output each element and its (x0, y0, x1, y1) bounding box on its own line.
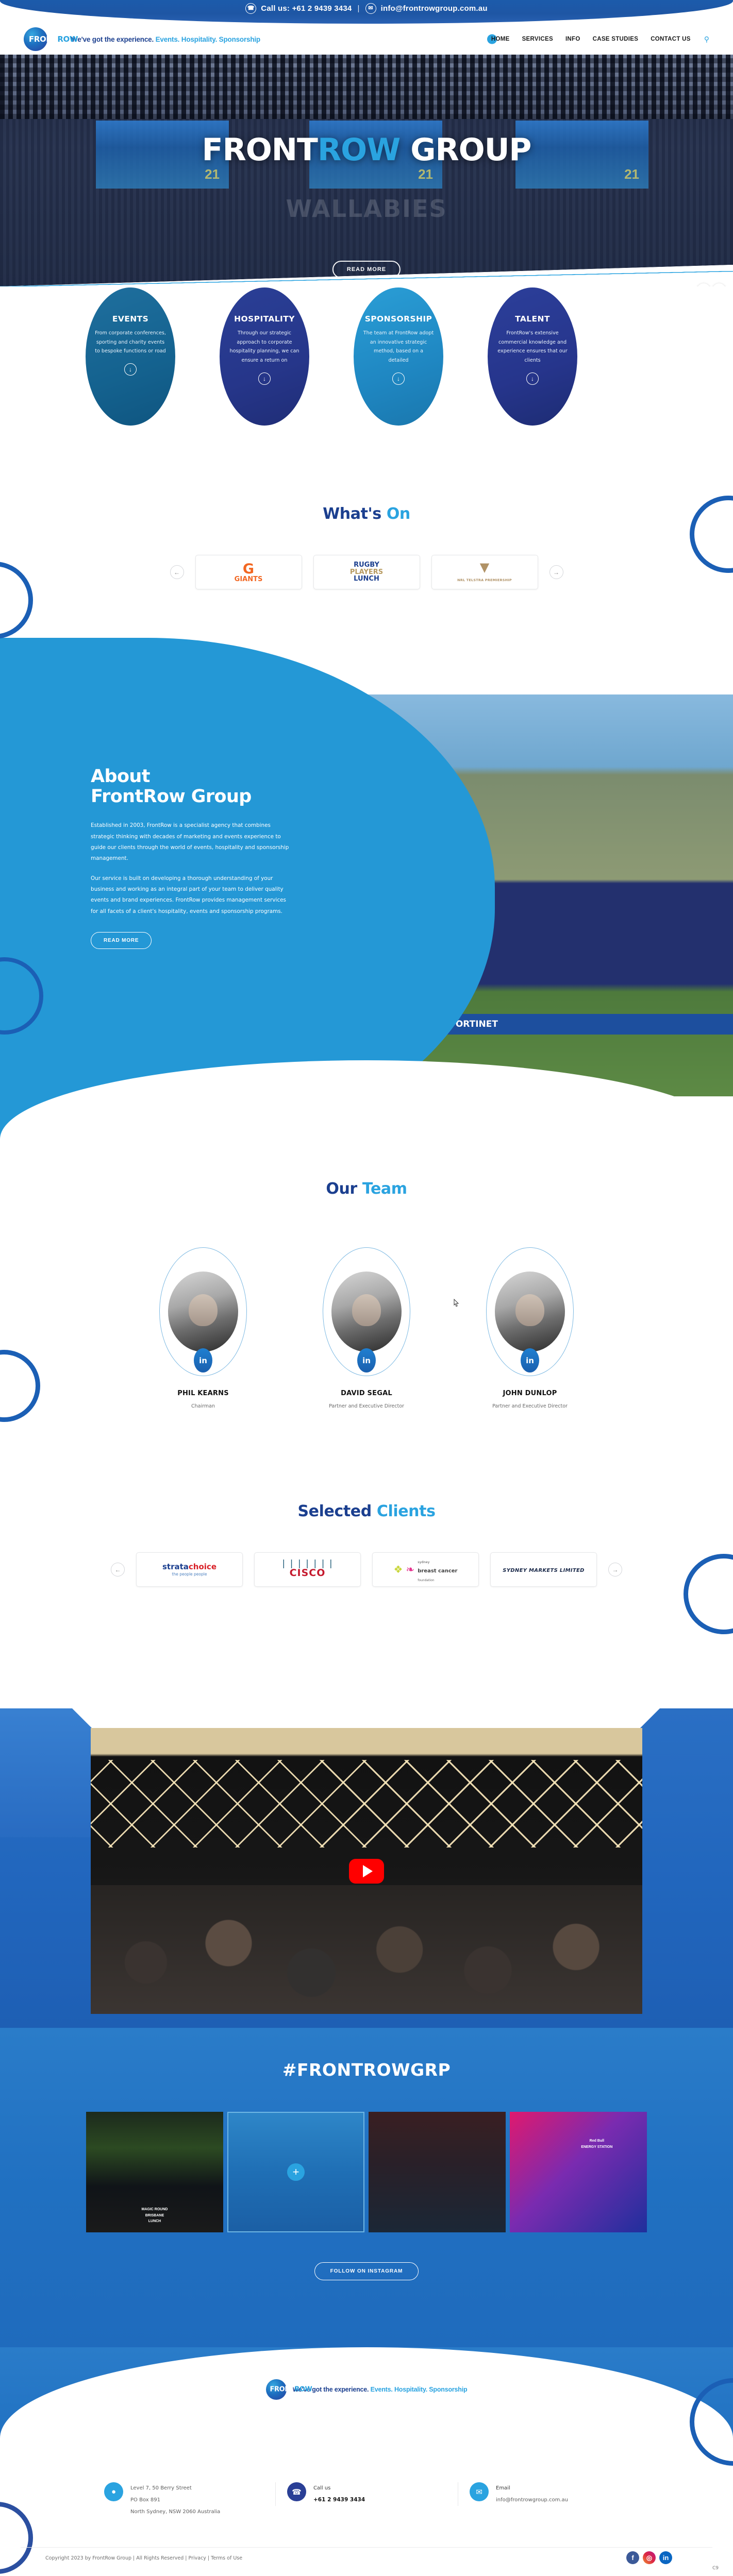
feature-oval-row: EVENTS From corporate conferences, sport… (0, 286, 733, 432)
client-card-stratachoice[interactable]: stratachoice the people people (136, 1552, 243, 1587)
hero-title-row: ROW (318, 132, 400, 168)
clients-carousel: ← stratachoice the people people ❘❘❘❘❘❘❘… (0, 1552, 733, 1587)
giants-label: GIANTS (235, 575, 263, 583)
rpl-line3: LUNCH (350, 575, 383, 583)
hero-title-front: FRONT (202, 132, 318, 168)
sbc-line1: sydney (418, 1560, 429, 1564)
sc-part-b: choice (189, 1562, 216, 1571)
hero-lighting-rig (0, 55, 733, 119)
mail-icon: ✉ (470, 2482, 489, 2501)
footer-phone-block: ☎ Call us +61 2 9439 3434 (275, 2482, 458, 2506)
team-title-a: Our (326, 1180, 362, 1198)
site-logo[interactable]: FRONTROW (24, 27, 47, 51)
video-player[interactable] (91, 1728, 642, 2014)
cisco-bars-icon: ❘❘❘❘❘❘❘ (280, 1560, 335, 1568)
hero-banner: WALLABIES FRONTROW GROUP READ MORE ‹ › (0, 55, 733, 286)
nav-item-case-studies[interactable]: CASE STUDIES (592, 34, 640, 44)
linkedin-icon[interactable]: in (659, 2551, 672, 2564)
flower-icon: ❖ (394, 1564, 403, 1575)
search-icon[interactable]: ⚲ (704, 35, 709, 44)
arrow-down-icon[interactable]: ↓ (392, 372, 405, 385)
arrow-down-icon[interactable]: ↓ (526, 372, 539, 385)
nav-item-home[interactable]: HOME (490, 34, 511, 44)
email-heading: Email (496, 2482, 568, 2494)
hero-backdrop-text: WALLABIES (0, 195, 733, 223)
feature-card-sponsorship[interactable]: SPONSORSHIP The team at FrontRow adopt a… (353, 286, 444, 427)
footer-logo-row: ROW (294, 2386, 312, 2394)
team-title: Our Team (0, 1180, 733, 1198)
sc-subtitle: the people people (162, 1572, 216, 1577)
selected-clients-section: Selected Clients ← stratachoice the peop… (0, 1502, 733, 1719)
site-footer: FRONTROW We've got the experience. Event… (0, 2347, 733, 2576)
site-header: FRONTROW We've got the experience. Event… (0, 24, 733, 55)
client-card-cisco[interactable]: ❘❘❘❘❘❘❘ CISCO (254, 1552, 361, 1587)
team-section: Our Team in PHIL KEARNS Chairman in (0, 1180, 733, 1499)
call-us-number[interactable]: +61 2 9439 3434 (313, 2494, 365, 2506)
footer-tagline: We've got the experience. Events. Hospit… (293, 2386, 468, 2393)
play-button-icon[interactable] (349, 1859, 384, 1884)
about-paragraph-2: Our service is built on developing a tho… (91, 873, 294, 917)
cisco-wordmark: CISCO (290, 1567, 326, 1579)
whats-on-section: What's On ← G GIANTS RUGBY PLAYERS LUNCH (0, 505, 733, 589)
about-content: About FrontRow Group Established in 2003… (91, 767, 294, 949)
footer-contact-row: ● Level 7, 50 Berry Street PO Box 891 No… (0, 2482, 733, 2518)
plus-icon[interactable]: + (287, 2163, 305, 2181)
nrl-telstra-premiership-logo: ▼ NRL TELSTRA PREMIERSHIP (457, 561, 512, 583)
top-contact-bar: ☎ Call us: +61 2 9439 3434 | ✉ info@fron… (0, 0, 733, 24)
arrow-down-icon[interactable]: ↓ (258, 372, 271, 385)
about-heading: About FrontRow Group (91, 767, 294, 807)
feature-card-talent[interactable]: TALENT FrontRow's extensive commercial k… (487, 286, 578, 427)
footer-address-block: ● Level 7, 50 Berry Street PO Box 891 No… (93, 2482, 275, 2518)
whats-on-card-giants[interactable]: G GIANTS (195, 555, 302, 589)
address-line-2: PO Box 891 (130, 2494, 220, 2506)
tagline-plain: We've got the experience. (71, 36, 154, 43)
logo-text-front: FRONT (29, 35, 57, 44)
sydney-breast-cancer-foundation-logo: ❖ ❧ sydney breast cancer foundation (394, 1556, 458, 1583)
feature-title-hospitality: HOSPITALITY (234, 314, 295, 324)
facebook-icon[interactable]: f (626, 2551, 639, 2564)
logo-ball-icon: FRONTROW (266, 2379, 287, 2400)
feature-card-hospitality[interactable]: HOSPITALITY Through our strategic approa… (219, 286, 310, 427)
giants-mark: G (235, 562, 263, 576)
avatar (495, 1272, 565, 1352)
clients-title-a: Selected (297, 1502, 376, 1520)
rugby-players-lunch-logo: RUGBY PLAYERS LUNCH (350, 562, 383, 583)
team-grid: in PHIL KEARNS Chairman in DAVID SEGAL P… (0, 1247, 733, 1409)
footer-email-block: ✉ Email info@frontrowgroup.com.au (458, 2482, 640, 2506)
linkedin-icon[interactable]: in (194, 1348, 212, 1372)
instagram-tile-portrait[interactable]: + (227, 2112, 364, 2232)
clients-title-b: Clients (377, 1502, 436, 1520)
instagram-section: #FRONTROWGRP + FOLLOW ON INSTAGRAM (0, 2028, 733, 2347)
cisco-logo: ❘❘❘❘❘❘❘ CISCO (280, 1560, 335, 1579)
feature-body-hospitality: Through our strategic approach to corpor… (229, 329, 300, 365)
avatar (168, 1272, 238, 1352)
logo-ball-icon: FRONTROW (24, 27, 47, 51)
sc-part-a: strata (162, 1562, 189, 1571)
about-section: betr CHAMPIONS LOUNGE betr FORTINET Abou… (0, 638, 733, 1158)
nav-item-contact-us[interactable]: CONTACT US (649, 34, 692, 44)
footer-divider (21, 2547, 712, 2548)
whats-on-carousel: ← G GIANTS RUGBY PLAYERS LUNCH ▼ NRL TEL… (0, 555, 733, 589)
clients-title: Selected Clients (0, 1502, 733, 1520)
corner-mark: C9 (712, 2566, 719, 2571)
hero-bottom-accent-line (0, 271, 733, 286)
rpl-line2: PLAYERS (350, 569, 383, 576)
logo-text-row: ROW (57, 35, 78, 44)
feature-body-sponsorship: The team at FrontRow adopt an innovative… (363, 329, 434, 365)
linkedin-icon[interactable]: in (357, 1348, 376, 1372)
hero-title: FRONTROW GROUP (0, 132, 733, 168)
whats-on-next-button[interactable]: → (549, 565, 563, 579)
team-member-name: JOHN DUNLOP (476, 1389, 584, 1397)
nrl-caption: NRL TELSTRA PREMIERSHIP (457, 578, 512, 582)
footer-social-links: f ◎ in (626, 2551, 672, 2564)
location-pin-icon: ● (104, 2482, 123, 2501)
footer-logo[interactable]: FRONTROW We've got the experience. Event… (0, 2379, 733, 2400)
team-member-john-dunlop[interactable]: in JOHN DUNLOP Partner and Executive Dir… (476, 1247, 584, 1409)
clients-next-button[interactable]: → (608, 1563, 622, 1577)
audience-crowd (91, 1885, 642, 2014)
instagram-icon[interactable]: ◎ (643, 2551, 656, 2564)
sydney-markets-limited-logo: SYDNEY MARKETS LIMITED (503, 1565, 584, 1574)
call-us-heading: Call us (313, 2482, 365, 2494)
whats-on-prev-button[interactable]: ← (170, 565, 184, 579)
main-navigation: HOME SERVICES INFO CASE STUDIES CONTACT … (490, 34, 709, 44)
address-line-3: North Sydney, NSW 2060 Australia (130, 2506, 220, 2518)
stage-zigzag-lights (91, 1760, 642, 1848)
team-title-b: Team (362, 1180, 407, 1198)
phone-icon: ☎ (245, 3, 256, 14)
about-heading-line2: FrontRow Group (91, 786, 252, 807)
client-card-sydney-breast-cancer[interactable]: ❖ ❧ sydney breast cancer foundation (372, 1552, 479, 1587)
page-root: ☎ Call us: +61 2 9439 3434 | ✉ info@fron… (0, 0, 733, 2576)
feature-title-events: EVENTS (112, 314, 148, 324)
nrl-shield-icon: ▼ (457, 561, 512, 573)
phone-icon: ☎ (287, 2482, 306, 2501)
stratachoice-logo: stratachoice the people people (162, 1562, 216, 1577)
team-member-role: Partner and Executive Director (476, 1403, 584, 1409)
about-heading-line1: About (91, 766, 150, 787)
avatar-ring: in (486, 1247, 574, 1376)
feature-title-talent: TALENT (515, 314, 550, 324)
header-tagline: We've got the experience. Events. Hospit… (71, 36, 260, 43)
email-address[interactable]: info@frontrowgroup.com.au (496, 2494, 568, 2506)
mail-icon: ✉ (365, 3, 376, 14)
team-member-role: Chairman (149, 1403, 257, 1409)
sml-wordmark: SYDNEY MARKETS LIMITED (503, 1568, 584, 1573)
team-member-david-segal[interactable]: in DAVID SEGAL Partner and Executive Dir… (312, 1247, 421, 1409)
sbc-line3: foundation (418, 1579, 434, 1582)
avatar-ring: in (323, 1247, 410, 1376)
avatar-ring: in (159, 1247, 247, 1376)
team-member-role: Partner and Executive Director (312, 1403, 421, 1409)
ribbon-icon: ❧ (406, 1564, 414, 1575)
clients-prev-button[interactable]: ← (111, 1563, 125, 1577)
whats-on-card-nrl[interactable]: ▼ NRL TELSTRA PREMIERSHIP (431, 555, 538, 589)
rpl-line1: RUGBY (350, 562, 383, 569)
copyright-text: Copyright 2023 by FrontRow Group | All R… (45, 2555, 242, 2561)
sbc-line2: breast cancer (418, 1568, 457, 1574)
tagline-accent: Events. Hospitality. Sponsorship (156, 36, 260, 43)
nav-item-info[interactable]: INFO (564, 34, 581, 44)
client-card-sydney-markets[interactable]: SYDNEY MARKETS LIMITED (490, 1552, 597, 1587)
linkedin-icon[interactable]: in (521, 1348, 539, 1372)
team-member-phil-kearns[interactable]: in PHIL KEARNS Chairman (149, 1247, 257, 1409)
instagram-tile-redbull[interactable] (510, 2112, 647, 2232)
instagram-tile-magic-round[interactable] (86, 2112, 223, 2232)
about-paragraph-1: Established in 2003, FrontRow is a speci… (91, 820, 294, 864)
whats-on-title-a: What's (323, 505, 387, 523)
about-read-more-button[interactable]: READ MORE (91, 932, 152, 949)
whats-on-title-b: On (387, 505, 410, 523)
top-call-text[interactable]: Call us: +61 2 9439 3434 (261, 4, 352, 13)
whats-on-card-rugby-players-lunch[interactable]: RUGBY PLAYERS LUNCH (313, 555, 420, 589)
feature-body-talent: FrontRow's extensive commercial knowledg… (497, 329, 568, 365)
arrow-down-icon[interactable]: ↓ (124, 363, 137, 376)
feature-card-events[interactable]: EVENTS From corporate conferences, sport… (85, 286, 176, 427)
team-member-name: PHIL KEARNS (149, 1389, 257, 1397)
top-email-link[interactable]: info@frontrowgroup.com.au (381, 4, 488, 13)
footer-tagline-accent: Events. Hospitality. Sponsorship (371, 2386, 468, 2393)
feature-body-events: From corporate conferences, sporting and… (95, 329, 166, 356)
avatar (331, 1272, 402, 1352)
footer-logo-front: FRONT (270, 2386, 295, 2394)
address-line-1: Level 7, 50 Berry Street (130, 2482, 220, 2494)
nav-item-services[interactable]: SERVICES (521, 34, 554, 44)
top-separator: | (356, 4, 360, 13)
feature-title-sponsorship: SPONSORSHIP (365, 314, 432, 324)
mouse-cursor-icon (453, 1299, 460, 1308)
instagram-tile-panel[interactable] (369, 2112, 506, 2232)
hero-title-group: GROUP (400, 132, 531, 168)
giants-logo: G GIANTS (235, 562, 263, 583)
team-member-name: DAVID SEGAL (312, 1389, 421, 1397)
whats-on-title: What's On (0, 505, 733, 523)
follow-on-instagram-button[interactable]: FOLLOW ON INSTAGRAM (314, 2262, 419, 2280)
video-section (0, 1708, 733, 2028)
instagram-grid: + (0, 2112, 733, 2232)
instagram-hashtag: #FRONTROWGRP (0, 2028, 733, 2080)
